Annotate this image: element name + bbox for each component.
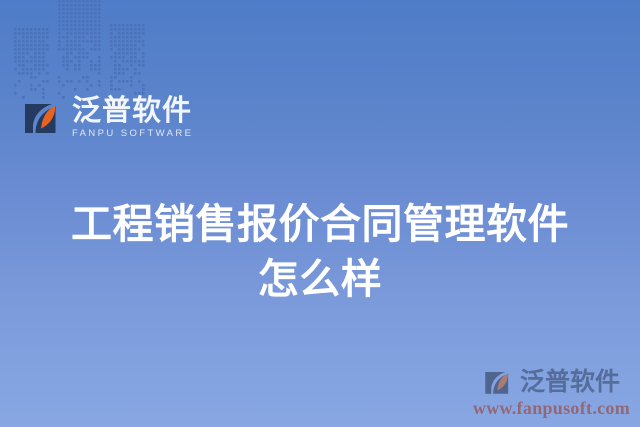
fanpu-logo-mark-icon [22, 100, 66, 136]
page-title: 工程销售报价合同管理软件 怎么样 [0, 197, 640, 306]
watermark-brand-row: 泛普软件 [483, 367, 620, 397]
pixel-building-pattern-icon [14, 0, 186, 100]
watermark-url: www.fanpusoft.com [473, 398, 630, 419]
brand-name-en: FANPU SOFTWARE [72, 129, 193, 139]
fanpu-watermark-mark-icon [483, 369, 516, 396]
promo-banner: 泛普软件 FANPU SOFTWARE 工程销售报价合同管理软件 怎么样 泛普软… [0, 0, 640, 427]
watermark: 泛普软件 www.fanpusoft.com [473, 367, 630, 419]
brand-name-cn: 泛普软件 [72, 97, 193, 126]
watermark-brand-name: 泛普软件 [520, 370, 620, 395]
brand-wordmark: 泛普软件 FANPU SOFTWARE [72, 97, 193, 139]
brand-logo: 泛普软件 FANPU SOFTWARE [22, 96, 193, 140]
